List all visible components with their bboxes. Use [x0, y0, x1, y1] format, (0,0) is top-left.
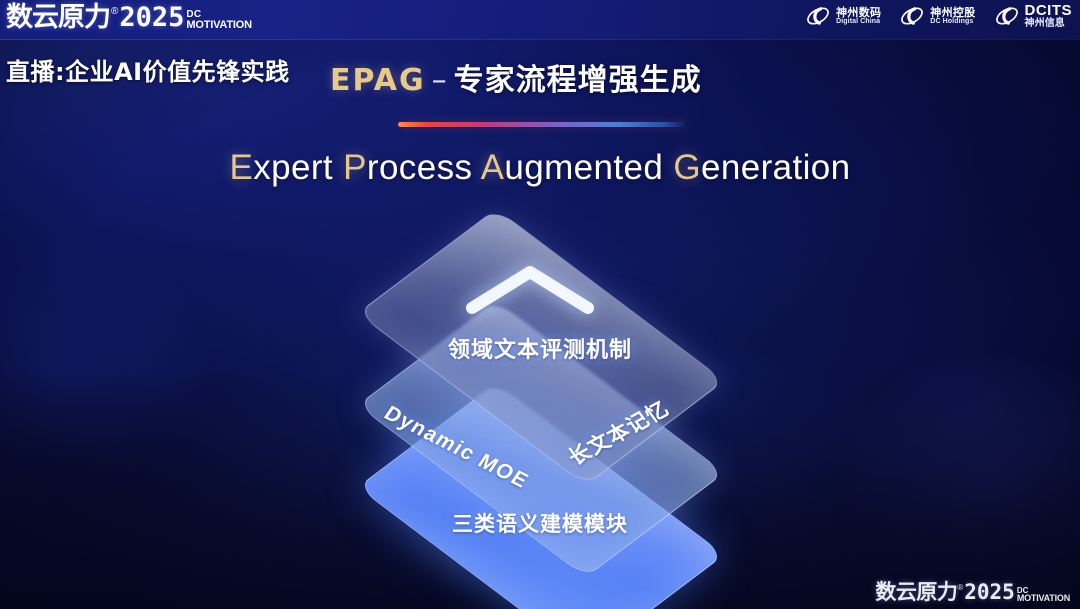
chevron-up-icon: [462, 262, 598, 316]
brand-dc-motivation: DC MOTIVATION: [186, 10, 251, 30]
gradient-divider: [398, 122, 688, 127]
watermark-registered-mark: ®: [957, 583, 963, 592]
watermark-dc-line2: MOTIVATION: [1017, 594, 1070, 603]
watermark-dc-motivation: DC MOTIVATION: [1017, 587, 1070, 603]
brand-year: 2025: [119, 4, 184, 31]
swirl-logo-icon: [899, 3, 925, 29]
isometric-layer-stack: 领域文本评测机制 Dynamic MOE 长文本记忆 三类语义建模模块: [290, 222, 790, 590]
word-initial: A: [481, 148, 505, 187]
live-stream-label: 直播:企业AI价值先锋实践: [6, 52, 290, 87]
title-dash: –: [432, 63, 448, 98]
brand-name-cn: 数云原力: [6, 4, 110, 31]
word-initial: P: [343, 148, 367, 187]
layer-top-label: 领域文本评测机制: [290, 332, 790, 364]
footer-watermark: 数云原力 ® 2025 DC MOTIVATION: [875, 582, 1070, 603]
partner-name-en: DC Holdings: [930, 18, 975, 25]
swirl-logo-icon: [994, 3, 1020, 29]
english-word-generation: Generation: [673, 148, 850, 187]
partner-name-cn: 神州控股: [930, 7, 975, 19]
partner-logos: 神州数码 Digital China 神州控股 DC Holdings: [805, 3, 1072, 29]
partner-logo-digital-china: 神州数码 Digital China: [805, 3, 881, 29]
word-rest: rocess: [367, 148, 473, 187]
partner-name-en: 神州信息: [1025, 19, 1073, 30]
watermark-name-cn: 数云原力: [875, 582, 957, 603]
partner-logo-dcits: DCITS 神州信息: [994, 3, 1073, 29]
partner-logo-text: 神州控股 DC Holdings: [930, 7, 975, 26]
partner-logo-dc-holdings: 神州控股 DC Holdings: [899, 3, 975, 29]
partner-name-cn: 神州数码: [836, 7, 881, 19]
layer-bottom-label: 三类语义建模模块: [290, 508, 790, 538]
brand-registered-mark: ®: [111, 7, 118, 17]
word-initial: G: [673, 148, 701, 187]
title-acronym: EPAG: [330, 63, 426, 98]
swirl-logo-icon: [805, 3, 831, 29]
english-word-expert: Expert: [229, 148, 333, 187]
presentation-slide: 数云原力 ® 2025 DC MOTIVATION 直播:企业AI价值先锋实践 …: [0, 0, 1080, 609]
english-word-augmented: Augmented: [481, 148, 664, 187]
slide-title: EPAG–专家流程增强生成: [330, 55, 702, 99]
watermark-year: 2025: [964, 582, 1015, 603]
partner-logo-text: DCITS 神州信息: [1025, 3, 1073, 29]
word-rest: eneration: [701, 148, 851, 187]
word-rest: ugmented: [504, 148, 663, 187]
english-word-process: Process: [343, 148, 472, 187]
partner-logo-text: 神州数码 Digital China: [836, 7, 881, 26]
partner-name-cn: DCITS: [1025, 3, 1073, 19]
word-initial: E: [229, 148, 253, 187]
title-chinese: 专家流程增强生成: [454, 63, 702, 98]
english-subtitle: Expert Process Augmented Generation: [0, 148, 1080, 188]
layer-top[interactable]: [290, 226, 790, 416]
partner-name-en: Digital China: [836, 18, 881, 25]
word-rest: xpert: [253, 148, 333, 187]
brand-logo: 数云原力 ® 2025 DC MOTIVATION: [6, 4, 252, 31]
brand-dc-line2: MOTIVATION: [186, 20, 251, 30]
